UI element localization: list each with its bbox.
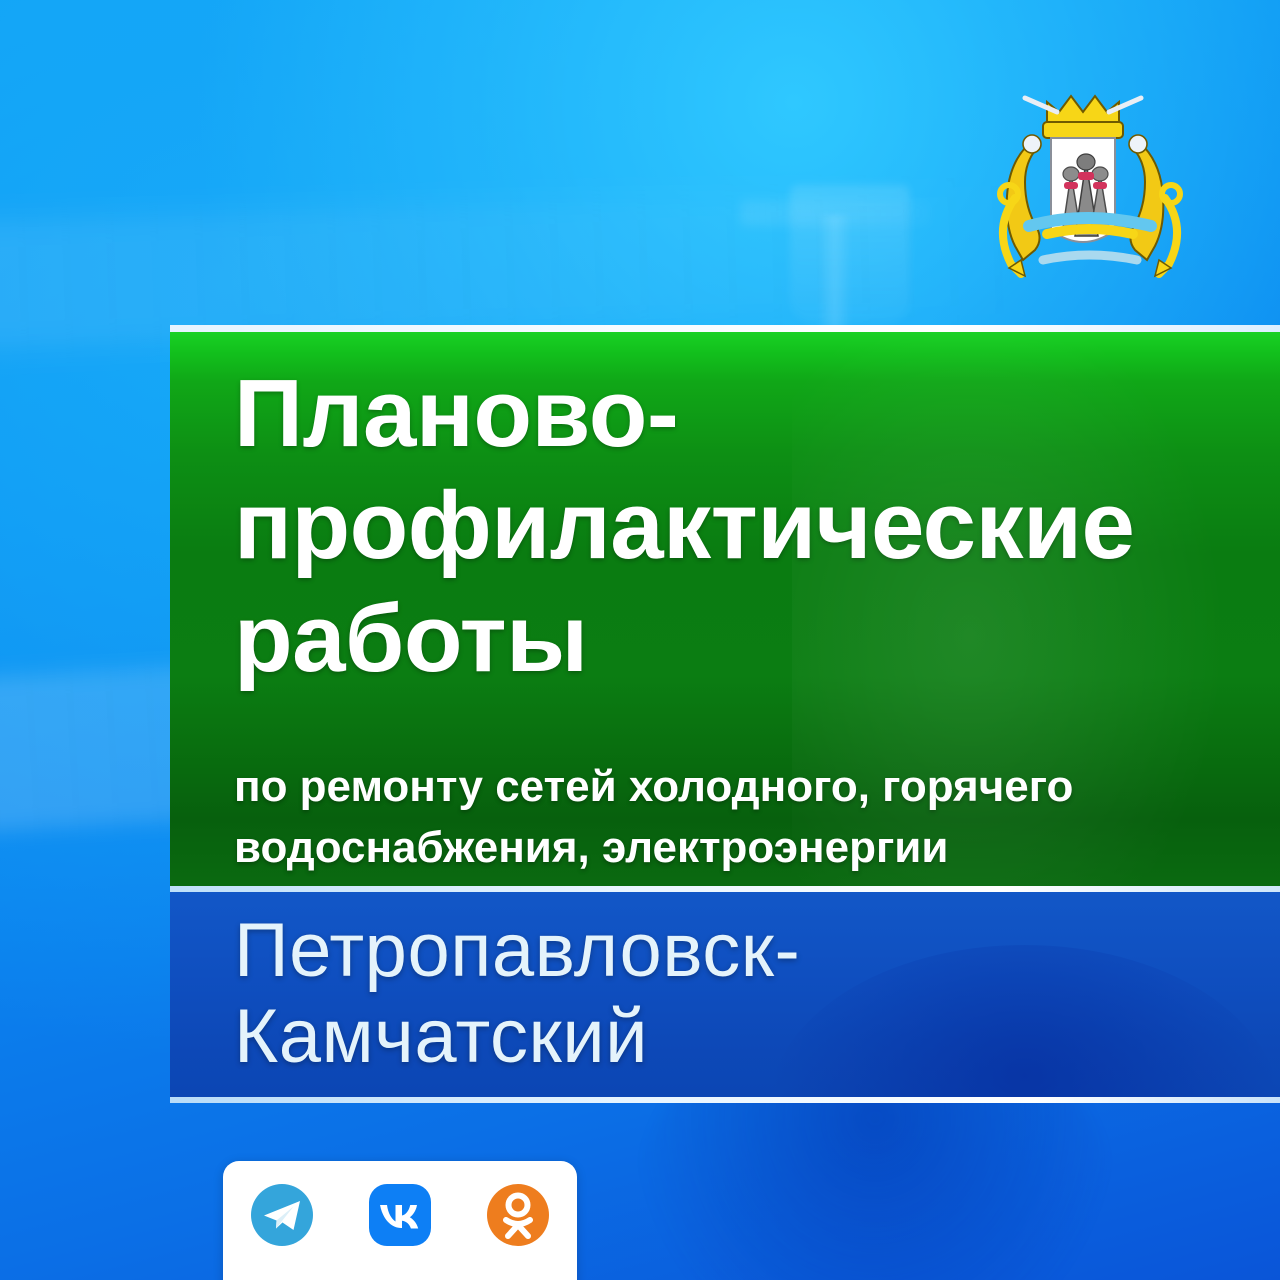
background-faucet-head — [790, 185, 910, 325]
page-title: Планово- профилактические работы — [234, 358, 1234, 695]
vk-icon[interactable] — [368, 1183, 432, 1247]
social-links-card — [223, 1161, 577, 1280]
divider-bottom — [170, 1097, 1280, 1103]
announcement-poster: Планово- профилактические работы по ремо… — [0, 0, 1280, 1280]
green-band: Планово- профилактические работы по ремо… — [170, 332, 1280, 886]
blue-band: Петропавловск- Камчатский — [170, 892, 1280, 1097]
odnoklassniki-icon[interactable] — [486, 1183, 550, 1247]
crown-part — [1025, 96, 1141, 138]
city-name: Петропавловск- Камчатский — [234, 908, 1244, 1080]
social-links-row — [223, 1183, 577, 1247]
coat-of-arms-icon — [985, 78, 1195, 298]
telegram-icon[interactable] — [250, 1183, 314, 1247]
divider-top — [170, 325, 1280, 332]
page-subtitle: по ремонту сетей холодного, горячего вод… — [234, 757, 1244, 878]
content-panel: Планово- профилактические работы по ремо… — [170, 325, 1280, 1105]
